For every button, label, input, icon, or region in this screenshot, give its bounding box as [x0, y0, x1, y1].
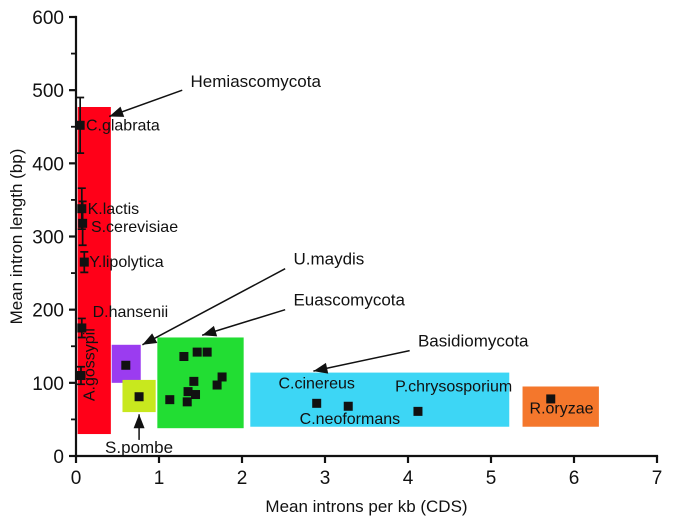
arrowhead-icon — [109, 107, 124, 117]
data-point-marker — [191, 390, 200, 399]
y-tick-label: 600 — [32, 8, 64, 29]
y-axis-ticks: 0100200300400500600 — [32, 8, 76, 468]
species-label-r-oryzae: R.oryzae — [530, 401, 594, 418]
species-label-c-neoformans: C.neoformans — [300, 411, 401, 428]
data-point-marker — [121, 361, 130, 370]
annotation-label-umaydis: U.maydis — [293, 249, 364, 268]
arrowhead-icon — [313, 363, 328, 374]
species-label-p-chrysosporium: P.chrysosporium — [395, 379, 512, 396]
x-tick-label: 6 — [569, 468, 580, 489]
data-point-marker — [218, 372, 227, 381]
x-tick-label: 0 — [71, 468, 82, 489]
x-tick-label: 7 — [652, 468, 663, 489]
arrowhead-icon — [202, 326, 217, 337]
y-tick-label: 300 — [32, 228, 64, 249]
y-axis-title: Mean intron length (bp) — [7, 149, 26, 325]
species-label-d-hansenii: D.hansenii — [93, 304, 169, 321]
data-point-marker — [80, 258, 89, 267]
leader-line — [313, 351, 409, 371]
annotation-label-basidiomycota: Basidiomycota — [418, 331, 529, 350]
data-point-marker — [189, 377, 198, 386]
data-point-marker — [165, 395, 174, 404]
x-tick-label: 1 — [154, 468, 165, 489]
species-label-s-cerevisiae: S.cerevisiae — [91, 219, 178, 236]
annotation-label-spombe: S.pombe — [105, 438, 173, 457]
y-tick-label: 500 — [32, 81, 64, 102]
data-point-marker — [135, 392, 144, 401]
data-point-marker — [193, 348, 202, 357]
annotation-label-euascomycota: Euascomycota — [293, 290, 405, 309]
species-label-a-gossypii: A.gossypii — [81, 328, 98, 401]
x-tick-label: 2 — [237, 468, 248, 489]
data-point-marker — [183, 397, 192, 406]
data-point-marker — [344, 402, 353, 411]
annotation-label-hemiascomycota: Hemiascomycota — [191, 72, 322, 91]
data-point-marker — [213, 381, 222, 390]
data-point-marker — [179, 352, 188, 361]
y-tick-label: 100 — [32, 374, 64, 395]
arrowhead-icon — [134, 414, 145, 428]
scatter-plot-figure: 0100200300400500600 01234567 Mean intron… — [0, 0, 685, 525]
arrowhead-icon — [142, 333, 157, 344]
y-tick-label: 200 — [32, 301, 64, 322]
y-tick-label: 0 — [53, 447, 64, 468]
x-axis-ticks: 01234567 — [71, 456, 663, 489]
species-label-c-cinereus: C.cinereus — [278, 376, 354, 393]
data-point-marker — [312, 399, 321, 408]
species-label-y-lipolytica: Y.lipolytica — [89, 254, 164, 271]
species-label-k-lactis: K.lactis — [88, 201, 140, 218]
data-point-marker — [203, 348, 212, 357]
x-tick-label: 5 — [486, 468, 497, 489]
data-point-marker — [413, 407, 422, 416]
x-tick-label: 4 — [403, 468, 414, 489]
species-label-c-glabrata: C.glabrata — [86, 117, 160, 134]
y-tick-label: 400 — [32, 154, 64, 175]
x-tick-label: 3 — [320, 468, 331, 489]
data-point-marker — [78, 219, 87, 228]
plot-canvas: 0100200300400500600 01234567 Mean intron… — [0, 0, 685, 525]
x-axis-title: Mean introns per kb (CDS) — [265, 497, 467, 516]
